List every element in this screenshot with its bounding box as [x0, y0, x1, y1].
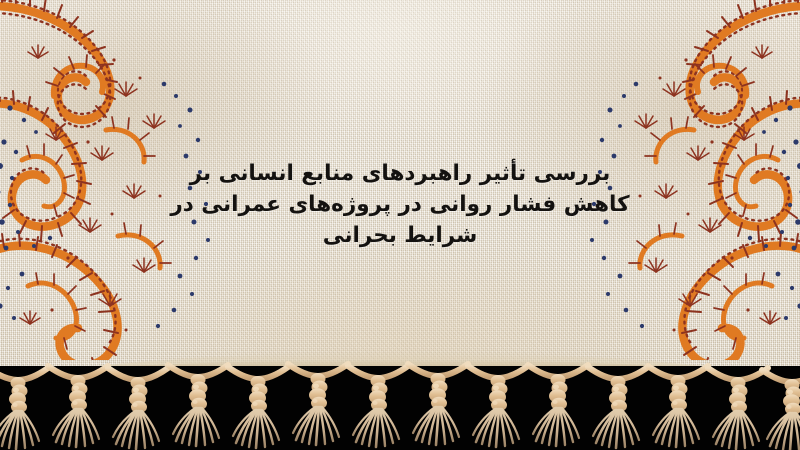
knotted-tassel-fringe	[0, 358, 800, 450]
page-title: بررسی تأثیر راهبردهای منابع انسانی بر کا…	[0, 158, 800, 251]
title-line-2: کاهش فشار روانی در پروژه‌های عمرانی در	[0, 189, 800, 220]
title-line-1: بررسی تأثیر راهبردهای منابع انسانی بر	[0, 158, 800, 189]
tassel-row	[0, 364, 800, 450]
title-line-3: شرایط بحرانی	[0, 220, 800, 251]
textile-title-card: بررسی تأثیر راهبردهای منابع انسانی بر کا…	[0, 0, 800, 450]
